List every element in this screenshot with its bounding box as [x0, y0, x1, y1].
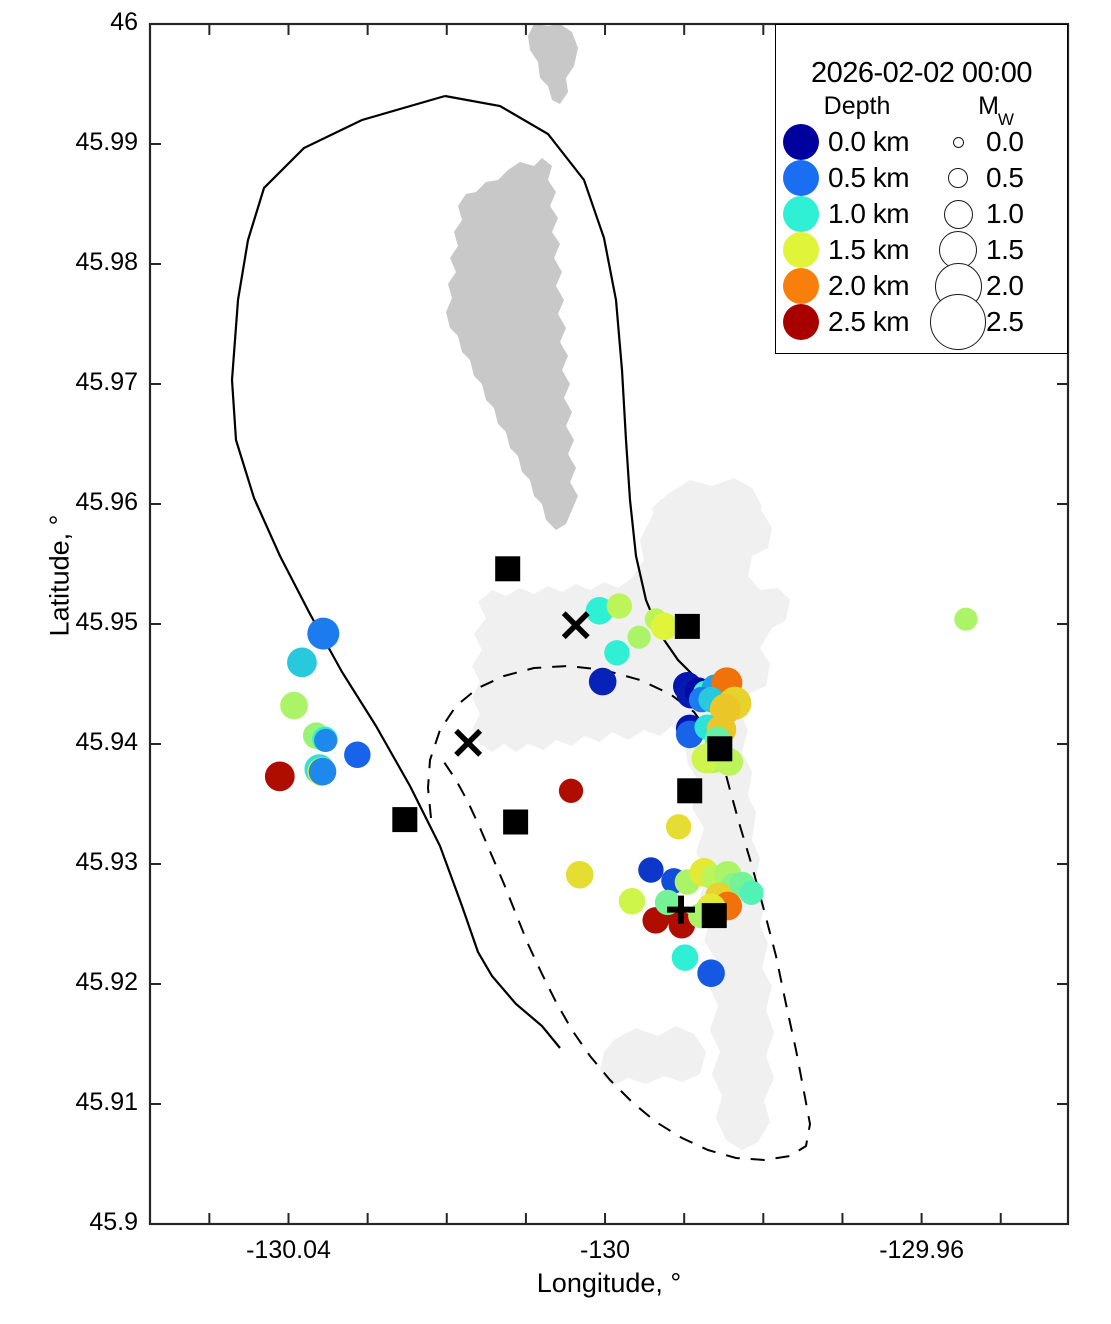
earthquake-marker — [954, 608, 977, 631]
y-tick-label: 45.96 — [75, 488, 138, 517]
earthquake-marker — [739, 881, 763, 905]
legend-mw-row: 0.5 — [930, 160, 1065, 196]
y-tick-label: 45.9 — [89, 1208, 138, 1237]
earthquake-marker — [309, 758, 337, 786]
station-marker — [707, 736, 732, 761]
legend-mw-label: 1.0 — [986, 198, 1023, 230]
legend-depth-label: 1.0 km — [824, 198, 909, 230]
y-tick-label: 45.93 — [75, 848, 138, 877]
legend-mw-ring — [930, 294, 986, 350]
earthquake-marker — [344, 742, 371, 769]
x-tick-label: -130 — [580, 1236, 630, 1265]
legend-depth-row: 2.5 km — [778, 304, 930, 340]
legend-depth-dot — [783, 196, 819, 232]
station-marker — [677, 778, 702, 803]
legend-depth-swatch-wrap — [778, 304, 824, 340]
earthquake-marker — [607, 593, 632, 618]
earthquake-marker — [307, 618, 339, 650]
station-marker — [675, 614, 700, 639]
legend-timestamp: 2026-02-02 00:00 — [776, 57, 1067, 90]
legend-mw-ring-wrap — [930, 294, 986, 350]
legend-mw-header-sub: W — [998, 110, 1014, 129]
legend-depth-dot — [783, 304, 819, 340]
legend-mw-ring-wrap — [930, 137, 986, 148]
earthquake-marker — [651, 613, 679, 641]
legend-mw-ring — [948, 168, 968, 188]
legend-mw-label: 2.5 — [986, 306, 1023, 338]
figure-root: 45.945.9145.9245.9345.9445.9545.9645.974… — [0, 0, 1111, 1324]
legend-mw-ring-wrap — [930, 168, 986, 188]
earthquake-marker — [265, 762, 295, 792]
legend-depth-label: 0.5 km — [824, 162, 909, 194]
legend-mw-ring — [953, 137, 964, 148]
legend-depth-swatch-wrap — [778, 160, 824, 196]
legend-mw-row: 1.0 — [930, 196, 1065, 232]
legend-depth-dot — [783, 268, 819, 304]
legend-depth-swatch-wrap — [778, 232, 824, 268]
legend-mw-header: MW — [932, 92, 1061, 125]
legend-depth-header: Depth — [782, 92, 932, 125]
x-tick-label: -129.96 — [879, 1236, 964, 1265]
earthquake-marker — [666, 814, 691, 839]
earthquake-marker — [627, 626, 650, 649]
earthquake-marker — [314, 729, 337, 752]
y-tick-label: 45.97 — [75, 368, 138, 397]
legend-depth-row: 0.5 km — [778, 160, 930, 196]
station-marker — [392, 807, 417, 832]
legend-columns: 0.0 km0.5 km1.0 km1.5 km2.0 km2.5 km 0.0… — [776, 124, 1067, 340]
legend-mw-header-main: M — [978, 92, 999, 120]
legend-mw-ring-wrap — [930, 200, 986, 229]
station-marker — [503, 810, 528, 835]
earthquake-marker — [280, 692, 308, 720]
legend-depth-row: 0.0 km — [778, 124, 930, 160]
y-tick-label: 45.95 — [75, 608, 138, 637]
earthquake-marker — [604, 640, 629, 665]
legend-depth-row: 1.0 km — [778, 196, 930, 232]
legend-depth-dot — [783, 124, 819, 160]
legend-mw-label: 0.0 — [986, 126, 1023, 158]
earthquake-marker — [619, 888, 646, 915]
earthquake-marker — [638, 857, 663, 882]
legend-mw-row: 2.5 — [930, 304, 1065, 340]
legend-depth-swatch-wrap — [778, 268, 824, 304]
y-tick-label: 46 — [110, 8, 138, 37]
map-legend: 2026-02-02 00:00 Depth MW 0.0 km0.5 km1.… — [775, 24, 1068, 354]
earthquake-marker — [566, 861, 594, 889]
legend-mw-ring — [944, 200, 973, 229]
legend-depth-label: 1.5 km — [824, 234, 909, 266]
legend-depth-label: 0.0 km — [824, 126, 909, 158]
station-marker — [702, 903, 727, 928]
y-axis-label: Latitude, ° — [45, 456, 76, 696]
x-axis-label: Longitude, ° — [150, 1268, 1068, 1299]
y-tick-label: 45.94 — [75, 728, 138, 757]
earthquake-marker — [559, 779, 583, 803]
earthquake-marker — [697, 959, 725, 987]
legend-mw-column: 0.00.51.01.52.02.5 — [930, 124, 1065, 340]
legend-depth-column: 0.0 km0.5 km1.0 km1.5 km2.0 km2.5 km — [778, 124, 930, 340]
earthquake-marker — [672, 944, 699, 971]
x-tick-label: -130.04 — [246, 1236, 331, 1265]
earthquake-marker — [589, 668, 617, 696]
legend-mw-label: 2.0 — [986, 270, 1023, 302]
legend-depth-label: 2.5 km — [824, 306, 909, 338]
legend-depth-label: 2.0 km — [824, 270, 909, 302]
y-tick-label: 45.99 — [75, 128, 138, 157]
y-tick-label: 45.98 — [75, 248, 138, 277]
y-tick-label: 45.92 — [75, 968, 138, 997]
legend-mw-label: 1.5 — [986, 234, 1023, 266]
legend-depth-swatch-wrap — [778, 124, 824, 160]
legend-mw-row: 0.0 — [930, 124, 1065, 160]
legend-depth-row: 2.0 km — [778, 268, 930, 304]
legend-headers: Depth MW — [776, 92, 1067, 125]
legend-mw-label: 0.5 — [986, 162, 1023, 194]
legend-depth-row: 1.5 km — [778, 232, 930, 268]
earthquake-marker — [287, 648, 317, 678]
legend-depth-dot — [783, 232, 819, 268]
y-tick-label: 45.91 — [75, 1088, 138, 1117]
legend-depth-dot — [783, 160, 819, 196]
legend-depth-swatch-wrap — [778, 196, 824, 232]
station-marker — [495, 556, 520, 581]
